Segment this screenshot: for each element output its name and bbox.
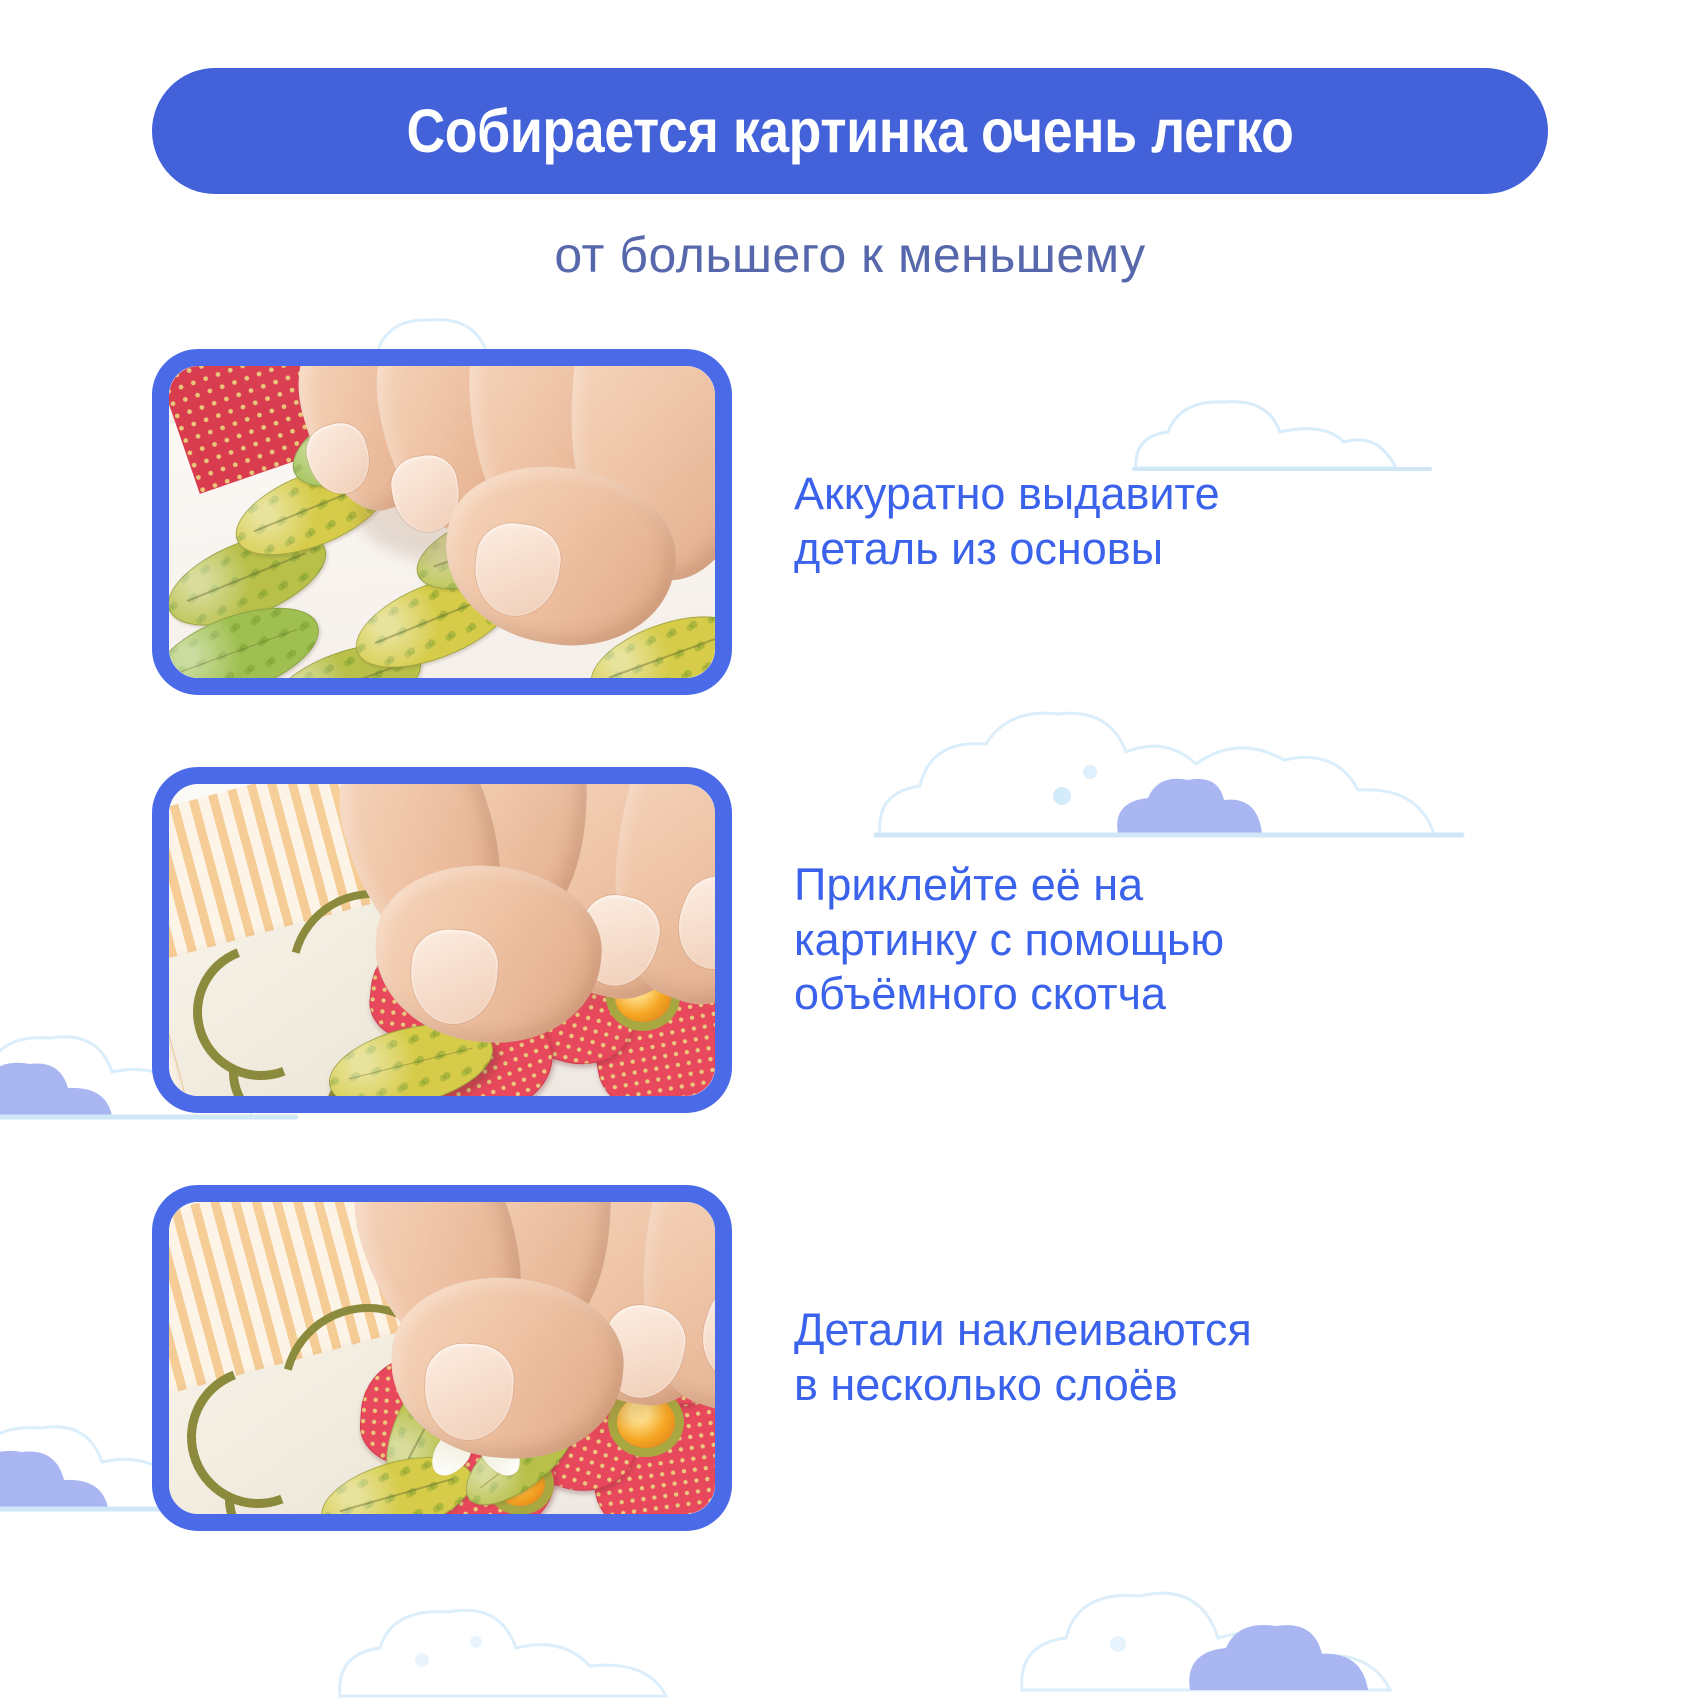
hand-illustration — [325, 366, 715, 678]
photo-pressing-leaf-from-sheet — [152, 349, 732, 695]
step-3-line-2: в несколько слоёв — [794, 1358, 1252, 1413]
steps-list: Аккуратно выдавите деталь из основы — [0, 340, 1700, 1594]
page-title: Собирается картинка очень легко — [406, 101, 1293, 162]
step-2-line-2: картинку с помощью — [794, 913, 1224, 968]
photo-gluing-leaf-on-picture — [152, 767, 732, 1113]
step-text-2: Приклейте её на картинку с помощью объём… — [794, 858, 1224, 1023]
step-2-line-1: Приклейте её на — [794, 858, 1224, 913]
step-2-line-3: объёмного скотча — [794, 967, 1224, 1022]
subtitle: от большего к меньшему — [0, 228, 1700, 283]
step-text-1: Аккуратно выдавите деталь из основы — [794, 467, 1220, 577]
step-3-line-1: Детали наклеиваются — [794, 1303, 1252, 1358]
step-text-3: Детали наклеиваются в несколько слоёв — [794, 1303, 1252, 1413]
step-item-3: Детали наклеиваются в несколько слоёв — [0, 1176, 1700, 1540]
step-1-line-1: Аккуратно выдавите — [794, 467, 1220, 522]
step-item-1: Аккуратно выдавите деталь из основы — [0, 340, 1700, 704]
step-1-line-2: деталь из основы — [794, 522, 1220, 577]
hand-illustration — [345, 1202, 715, 1514]
infographic-page: Собирается картинка очень легко от больш… — [0, 0, 1700, 1700]
hand-illustration — [327, 784, 715, 1096]
step-item-2: Приклейте её на картинку с помощью объём… — [0, 758, 1700, 1122]
photo-layered-details — [152, 1185, 732, 1531]
title-banner: Собирается картинка очень легко — [152, 68, 1548, 194]
